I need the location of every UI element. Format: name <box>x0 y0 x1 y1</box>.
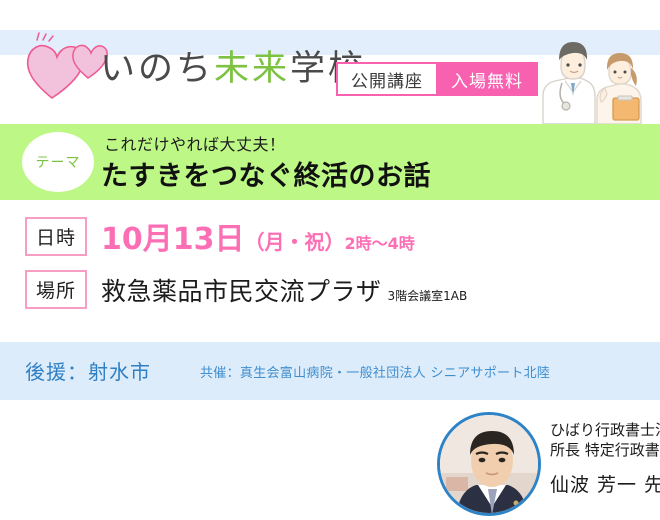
date-row: 日時 10月13日（月・祝）2時〜4時 <box>25 214 415 258</box>
date-value: 10月13日（月・祝）2時〜4時 <box>101 214 415 258</box>
date-main: 10月13日 <box>101 222 245 257</box>
badge-free-admission: 入場無料 <box>436 62 538 96</box>
speaker-role: 所長 特定行政書士 <box>550 440 660 460</box>
event-flyer: いのち未来学校 公開講座 入場無料 <box>0 0 660 400</box>
badge-public-lecture: 公開講座 <box>336 62 436 96</box>
theme-badge: テーマ <box>22 132 94 192</box>
speaker-info: ひばり行政書士法人 所長 特定行政書士 仙波 芳一 先生 <box>550 420 660 497</box>
event-details: 日時 10月13日（月・祝）2時〜4時 場所 救急薬品市民交流プラザ3階会議室1… <box>0 200 660 342</box>
logo-text: いのち未来学校 <box>100 52 366 87</box>
flyer-footer: 後援：射水市 共催：真生会富山病院・一般社団法人 シニアサポート北陸 <box>0 342 660 400</box>
place-row: 場所 救急薬品市民交流プラザ3階会議室1AB <box>25 270 467 309</box>
flyer-header: いのち未来学校 公開講座 入場無料 <box>0 0 660 124</box>
place-main: 救急薬品市民交流プラザ <box>101 277 382 306</box>
footer-cohost: 共催：真生会富山病院・一般社団法人 シニアサポート北陸 <box>200 362 550 381</box>
theme-badge-label: テーマ <box>36 152 81 172</box>
logo: いのち未来学校 <box>22 30 322 106</box>
speaker-name: 仙波 芳一 先生 <box>550 470 660 497</box>
theme-title: たすきをつなぐ終活のお話 <box>101 154 431 193</box>
date-tag: 日時 <box>25 217 87 256</box>
doctor-and-nurse-illustration <box>535 26 655 124</box>
date-time: 2時〜4時 <box>345 234 415 253</box>
logo-text-part2: 未来 <box>214 49 290 89</box>
theme-band: テーマ これだけやれば大丈夫！ たすきをつなぐ終活のお話 <box>0 124 660 200</box>
theme-subtitle: これだけやれば大丈夫！ <box>104 131 286 155</box>
header-badges: 公開講座 入場無料 <box>336 62 538 96</box>
place-value: 救急薬品市民交流プラザ3階会議室1AB <box>101 272 467 308</box>
place-tag: 場所 <box>25 270 87 309</box>
footer-support: 後援：射水市 <box>25 356 151 385</box>
logo-text-part1: いのち <box>100 49 214 89</box>
date-day: （月・祝） <box>245 230 345 254</box>
speaker-block: ひばり行政書士法人 所長 特定行政書士 仙波 芳一 先生 <box>437 412 652 520</box>
double-heart-icon <box>22 32 110 102</box>
speaker-organization: ひばり行政書士法人 <box>550 420 660 440</box>
place-detail: 3階会議室1AB <box>388 289 468 303</box>
speaker-portrait <box>437 412 541 516</box>
